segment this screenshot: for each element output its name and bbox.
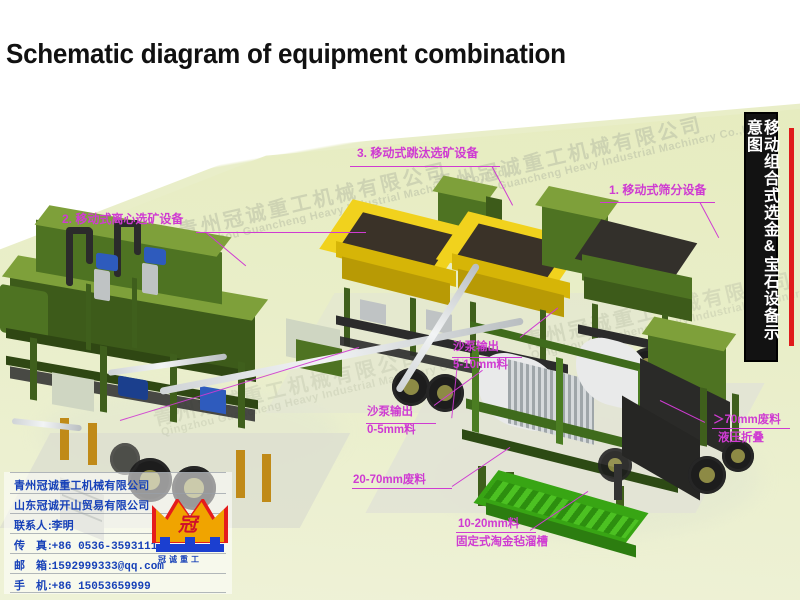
underline-3 xyxy=(350,166,500,167)
underline-2 xyxy=(196,232,366,233)
frame-post xyxy=(30,337,37,400)
email-row: 邮 箱:1592999333@qq.com xyxy=(14,557,164,573)
underline-sluice xyxy=(456,532,536,533)
tower-truss xyxy=(86,284,91,351)
callout-pump-5-10-line2: 5-10mm料 xyxy=(453,358,508,373)
contact-person-value: 李明 xyxy=(52,520,74,532)
underline-1 xyxy=(600,202,715,203)
tower-truss xyxy=(132,278,137,349)
outrigger-leg xyxy=(88,423,97,465)
fax-value: +86 0536-3593111 xyxy=(52,541,158,553)
underline-20-70 xyxy=(352,488,452,489)
centrifuge-bowl xyxy=(94,269,110,302)
company-logo: 冠 冠诚重工 xyxy=(152,500,228,568)
email-value: 1592999333@qq.com xyxy=(52,561,164,573)
centrifuge-bowl xyxy=(142,263,158,296)
callout-pump-0-5-line2: 0-5mm料 xyxy=(367,423,416,438)
page-title: Schematic diagram of equipment combinati… xyxy=(6,38,566,70)
cyclone-pipe xyxy=(66,230,73,287)
jig-frame-post xyxy=(410,297,416,356)
callout-pump-0-5-line1: 沙泵输出 xyxy=(367,405,413,420)
logo-text: 冠诚重工 xyxy=(158,554,222,565)
cyclone-pipe xyxy=(86,228,93,265)
callout-pump-5-10-line1: 沙泵输出 xyxy=(453,340,499,355)
company-name-2: 山东冠诚开山贸易有限公司 xyxy=(14,497,150,513)
card-divider xyxy=(10,573,226,574)
conveyor-wheel xyxy=(688,456,726,494)
trommel-frame-post xyxy=(556,357,563,445)
screenshot-root: Schematic diagram of equipment combinati… xyxy=(0,0,800,600)
email-label: 邮 箱 xyxy=(14,557,48,573)
fax-label: 传 真 xyxy=(14,537,48,553)
callout-waste-20-70: 20-70mm废料 xyxy=(353,473,426,488)
mobile-row: 手 机:+86 15053659999 xyxy=(14,577,151,593)
conveyor-post xyxy=(700,387,707,446)
card-divider xyxy=(10,493,226,494)
callout-equipment-1: 1. 移动式筛分设备 xyxy=(609,183,706,198)
callout-equipment-2: 2. 移动式离心选矿设备 xyxy=(62,212,183,227)
callout-waste-70-line2: 液压折叠 xyxy=(718,431,764,446)
mobile-value: +86 15053659999 xyxy=(52,581,151,593)
callout-sluice-line2: 固定式淘金毡溜槽 xyxy=(456,535,548,550)
outrigger-leg xyxy=(262,454,271,502)
frame-post xyxy=(100,345,107,412)
banner-red-bar xyxy=(789,128,794,346)
fax-row: 传 真:+86 0536-3593111 xyxy=(14,537,157,553)
callout-equipment-3: 3. 移动式跳汰选矿设备 xyxy=(357,146,478,161)
trailer-wheel xyxy=(110,443,140,475)
jig-wheel xyxy=(426,374,464,412)
underline-70-waste xyxy=(712,428,790,429)
vertical-title-banner: 移动组合式选金&宝石设备示意图 xyxy=(744,112,778,362)
contact-person-row: 联系人:李明 xyxy=(14,517,74,533)
contact-person-label: 联系人 xyxy=(14,517,48,533)
callout-sluice-line1: 10-20mm料 xyxy=(458,517,519,532)
logo-base-bar xyxy=(156,544,224,552)
logo-letter: 冠 xyxy=(178,510,197,537)
outrigger-leg xyxy=(236,450,245,498)
electric-box xyxy=(200,386,226,415)
mobile-label: 手 机 xyxy=(14,577,48,593)
card-divider xyxy=(10,472,226,473)
company-name-1: 青州冠诚重工机械有限公司 xyxy=(14,477,150,493)
conveyor-jack xyxy=(614,464,622,500)
callout-waste-70-line1: ＞70mm废料 xyxy=(713,413,781,428)
